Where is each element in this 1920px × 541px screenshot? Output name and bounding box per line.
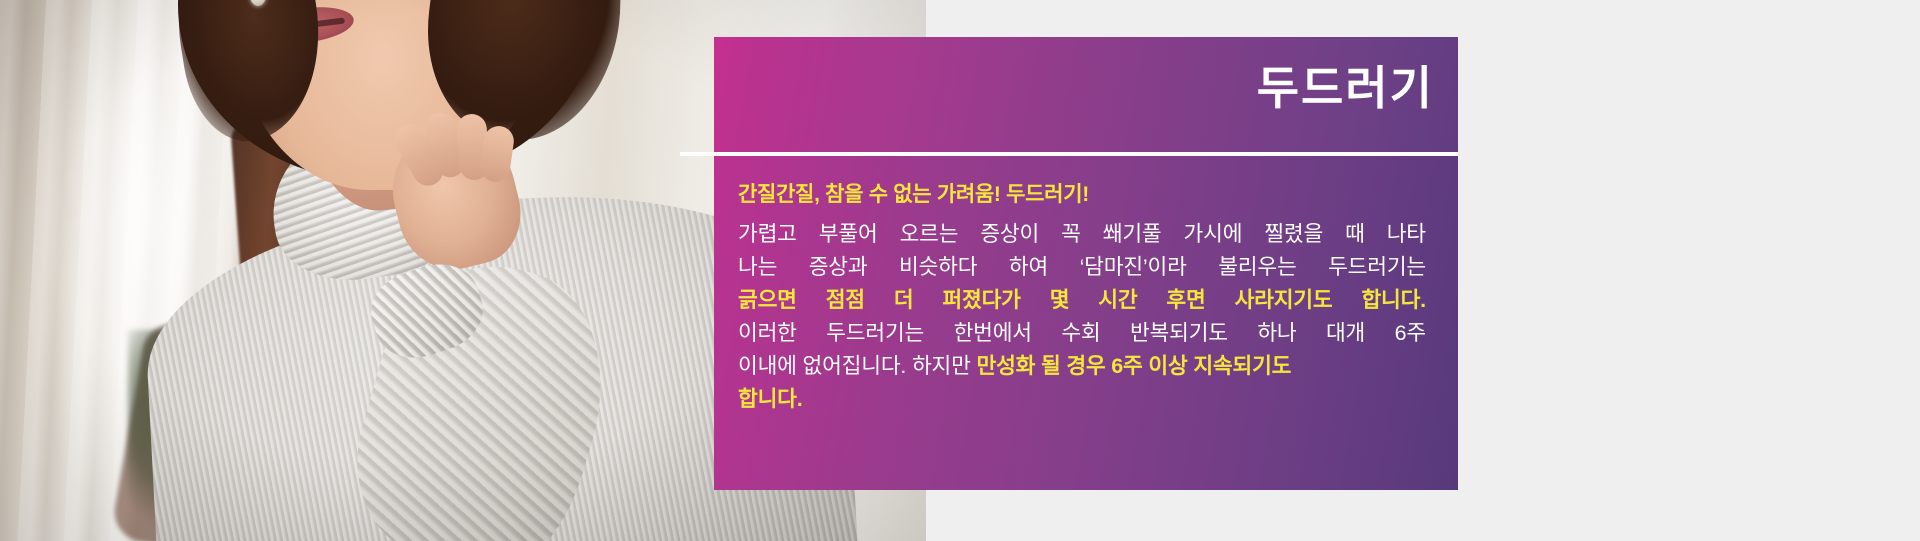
body-text: 이내에 없어집니다. 하지만	[738, 354, 976, 378]
body-word: 긁으면	[738, 284, 797, 317]
lead-heading: 간질간질, 참을 수 없는 가려움! 두드러기!	[738, 178, 1438, 211]
body-word: 나는	[738, 251, 777, 284]
body-word: 때	[1345, 218, 1365, 251]
body-word: 이러한	[738, 317, 797, 350]
body-word: 증상과	[809, 251, 868, 284]
screenshot-canvas: 두드러기 간질간질, 참을 수 없는 가려움! 두드러기! 가렵고부풀어오르는증…	[0, 0, 1920, 541]
body-word: 시간	[1098, 284, 1137, 317]
body-word: 불리우는	[1218, 251, 1296, 284]
page-title: 두드러기	[714, 62, 1434, 115]
body-word: 찔렸을	[1264, 218, 1323, 251]
body-word: ‘담마진’이라	[1080, 251, 1187, 284]
body-line: 합니다.	[738, 383, 1438, 416]
body-word: 오르는	[900, 218, 959, 251]
body-word: 수회	[1061, 317, 1100, 350]
body-word: 반복되기도	[1130, 317, 1228, 350]
title-divider	[680, 152, 1458, 156]
body-line: 이러한두드러기는한번에서수회반복되기도하나대개6주	[738, 317, 1426, 350]
body-word: 비슷하다	[899, 251, 977, 284]
body-word: 나타	[1387, 218, 1426, 251]
body-word: 몇	[1050, 284, 1070, 317]
body-line: 나는증상과비슷하다하여‘담마진’이라불리우는두드러기는	[738, 251, 1426, 284]
body-line: 긁으면점점더퍼졌다가몇시간후면사라지기도합니다.	[738, 284, 1426, 317]
body-word: 대개	[1326, 317, 1365, 350]
body-word: 6주	[1395, 317, 1426, 350]
highlight-text: 만성화 될 경우 6주 이상 지속되기도	[976, 354, 1291, 378]
body-word: 합니다.	[1361, 284, 1426, 317]
body-word: 하여	[1009, 251, 1048, 284]
body-word: 한번에서	[954, 317, 1032, 350]
body-word: 하나	[1257, 317, 1296, 350]
body-word: 부풀어	[819, 218, 878, 251]
body-word: 두드러기는	[1328, 251, 1426, 284]
body-word: 더	[894, 284, 914, 317]
body-word: 퍼졌다가	[942, 284, 1020, 317]
body-word: 가렵고	[738, 218, 797, 251]
body-line: 이내에 없어집니다. 하지만 만성화 될 경우 6주 이상 지속되기도	[738, 350, 1438, 383]
body-word: 꼭	[1061, 218, 1081, 251]
body-line: 가렵고부풀어오르는증상이꼭쐐기풀가시에찔렸을때나타	[738, 218, 1426, 251]
body-word: 증상이	[980, 218, 1039, 251]
body-paragraph: 가렵고부풀어오르는증상이꼭쐐기풀가시에찔렸을때나타나는증상과비슷하다하여‘담마진…	[738, 218, 1438, 416]
body-word: 사라지기도	[1235, 284, 1333, 317]
body-word: 쐐기풀	[1103, 218, 1162, 251]
body-word: 가시에	[1184, 218, 1243, 251]
panel-body-copy: 간질간질, 참을 수 없는 가려움! 두드러기! 가렵고부풀어오르는증상이꼭쐐기…	[738, 178, 1438, 416]
body-word: 점점	[826, 284, 865, 317]
body-word: 두드러기는	[826, 317, 924, 350]
body-word: 후면	[1166, 284, 1205, 317]
